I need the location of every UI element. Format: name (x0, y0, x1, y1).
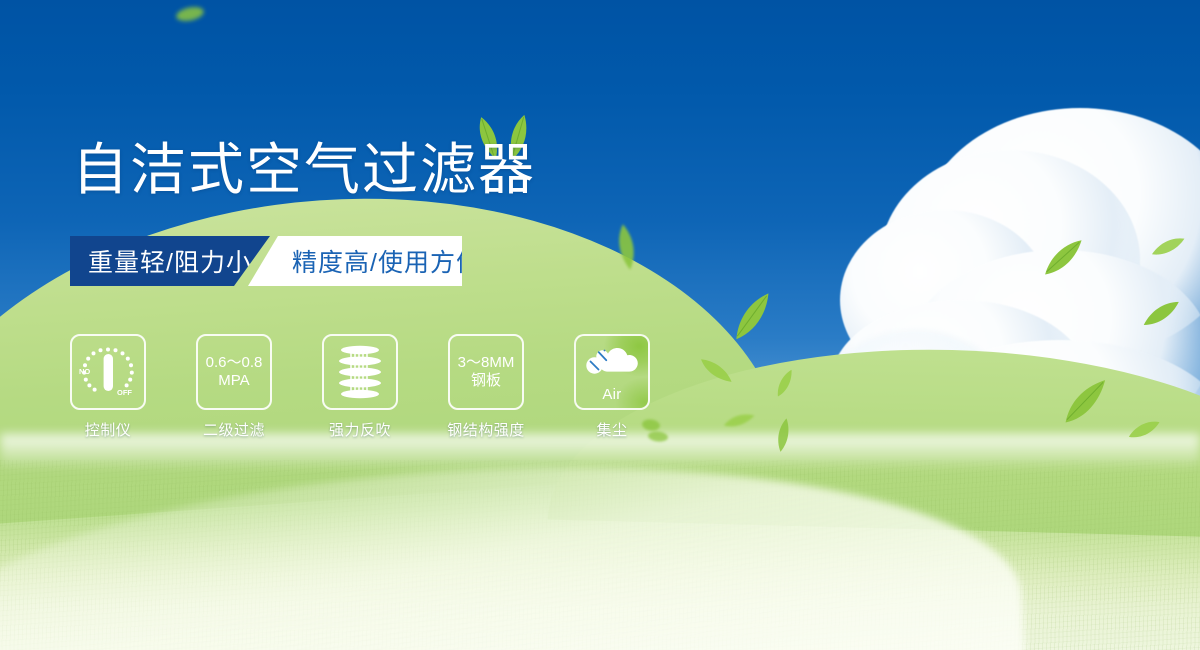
promo-banner: 自洁式空气过滤器 重量轻/阻力小 精度高/使用方便 (0, 0, 1200, 650)
feature-icon-box: Air (574, 334, 650, 410)
feature-icon-box: NO OFF (70, 334, 146, 410)
feature-label: 钢结构强度 (447, 419, 525, 440)
feature-label: 集尘 (596, 419, 627, 440)
filter-coil-icon (334, 343, 386, 401)
subtitle-left-text: 重量轻/阻力小 (88, 243, 252, 279)
subtitle-bar: 重量轻/阻力小 精度高/使用方便 (70, 236, 462, 286)
feature-list: NO OFF 控制仪 0.6～0.8 MPA 二级过滤 (70, 334, 650, 440)
steel-thickness-text: 3～8MM (458, 354, 515, 372)
subtitle-left-segment: 重量轻/阻力小 (70, 236, 270, 286)
subtitle-right-text: 精度高/使用方便 (292, 243, 482, 279)
svg-text:OFF: OFF (117, 388, 132, 397)
feature-label: 控制仪 (85, 419, 132, 440)
feature-label: 二级过滤 (203, 419, 265, 440)
feature-icon-box: 3～8MM 钢板 (448, 334, 524, 410)
steel-material-text: 钢板 (471, 372, 501, 390)
feature-label: 强力反吹 (329, 419, 391, 440)
feature-icon-box (322, 334, 398, 410)
feature-item-steel[interactable]: 3～8MM 钢板 钢结构强度 (448, 334, 524, 440)
feature-icon-box: 0.6～0.8 MPA (196, 334, 272, 410)
feature-item-control[interactable]: NO OFF 控制仪 (70, 334, 146, 440)
page-title: 自洁式空气过滤器 (72, 142, 536, 198)
gauge-icon: NO OFF (77, 343, 139, 401)
feature-item-pressure[interactable]: 0.6～0.8 MPA 二级过滤 (196, 334, 272, 440)
pressure-range-text: 0.6～0.8 (206, 354, 263, 372)
air-cloud-icon (582, 345, 642, 385)
subtitle-right-segment: 精度高/使用方便 (248, 236, 462, 286)
air-label: Air (602, 386, 621, 404)
banner-content: 自洁式空气过滤器 重量轻/阻力小 精度高/使用方便 (0, 0, 1200, 650)
feature-item-dust[interactable]: Air 集尘 (574, 334, 650, 440)
svg-text:NO: NO (79, 367, 90, 376)
pressure-unit-text: MPA (218, 372, 249, 390)
feature-item-blowback[interactable]: 强力反吹 (322, 334, 398, 440)
